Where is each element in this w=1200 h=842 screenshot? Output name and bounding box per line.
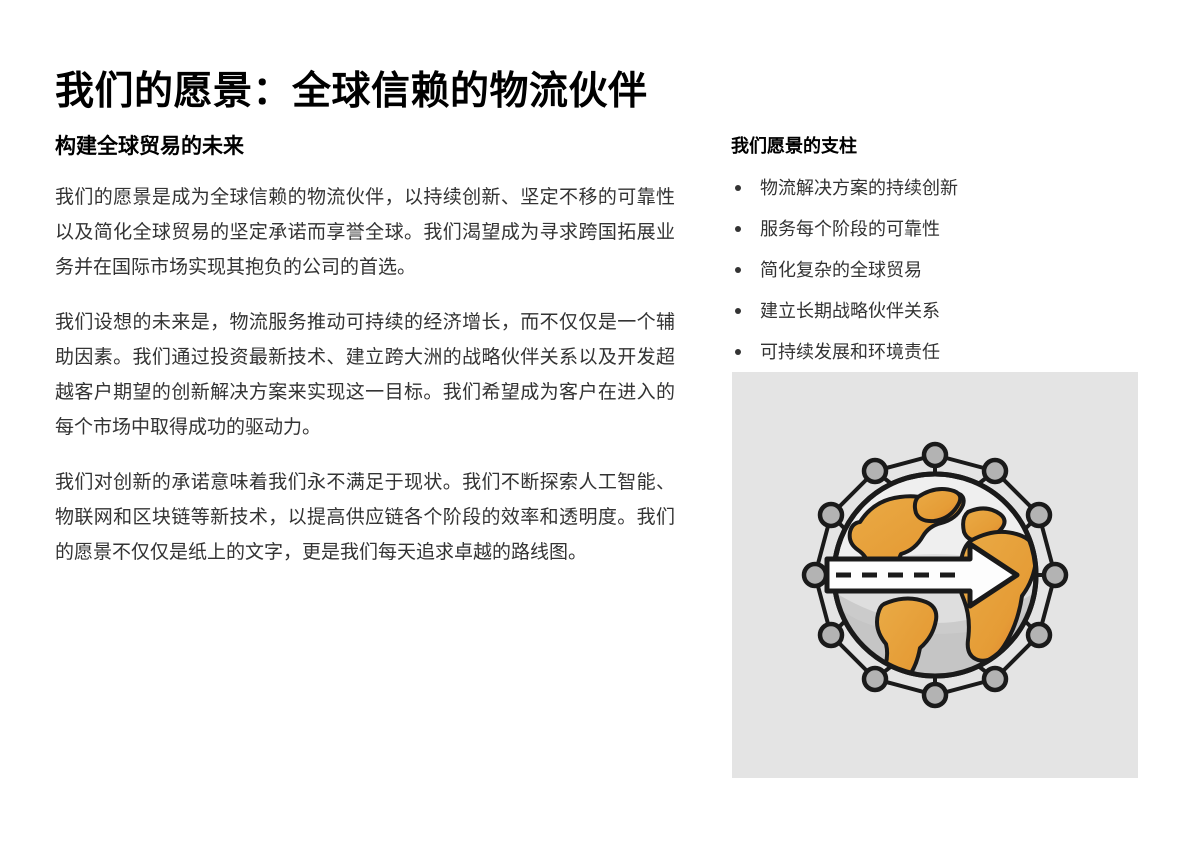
list-item-label: 建立长期战略伙伴关系 — [760, 301, 940, 321]
list-item-label: 简化复杂的全球贸易 — [760, 260, 922, 280]
network-node — [984, 460, 1006, 482]
bullet-dot-icon — [735, 185, 741, 191]
body-paragraph-1: 我们的愿景是成为全球信赖的物流伙伴，以持续创新、坚定不移的可靠性以及简化全球贸易… — [55, 180, 675, 285]
bullet-dot-icon — [735, 308, 741, 314]
network-node — [924, 684, 946, 706]
network-node — [984, 668, 1006, 690]
network-node — [820, 624, 842, 646]
network-node — [864, 668, 886, 690]
list-item-label: 物流解决方案的持续创新 — [760, 178, 958, 198]
body-paragraph-3: 我们对创新的承诺意味着我们永不满足于现状。我们不断探索人工智能、物联网和区块链等… — [55, 465, 675, 570]
right-sidebar-column: 我们愿景的支柱 物流解决方案的持续创新 服务每个阶段的可靠性 简化复杂的全球贸易… — [731, 133, 1141, 364]
network-node — [924, 444, 946, 466]
network-node — [864, 460, 886, 482]
network-node — [804, 564, 826, 586]
network-node — [820, 504, 842, 526]
left-content-column: 构建全球贸易的未来 我们的愿景是成为全球信赖的物流伙伴，以持续创新、坚定不移的可… — [55, 132, 675, 570]
pillars-heading: 我们愿景的支柱 — [731, 133, 1141, 159]
list-item: 服务每个阶段的可靠性 — [731, 217, 1141, 241]
network-node — [1028, 504, 1050, 526]
pillars-list: 物流解决方案的持续创新 服务每个阶段的可靠性 简化复杂的全球贸易 建立长期战略伙… — [731, 176, 1141, 364]
body-paragraph-2: 我们设想的未来是，物流服务推动可持续的经济增长，而不仅仅是一个辅助因素。我们通过… — [55, 305, 675, 445]
section-heading-building-future: 构建全球贸易的未来 — [55, 132, 675, 162]
list-item: 简化复杂的全球贸易 — [731, 258, 1141, 282]
bullet-dot-icon — [735, 349, 741, 355]
list-item: 建立长期战略伙伴关系 — [731, 299, 1141, 323]
list-item-label: 服务每个阶段的可靠性 — [760, 219, 940, 239]
bullet-dot-icon — [735, 267, 741, 273]
network-node — [1028, 624, 1050, 646]
globe-network-illustration — [732, 372, 1138, 778]
bullet-dot-icon — [735, 226, 741, 232]
network-node — [1044, 564, 1066, 586]
list-item: 物流解决方案的持续创新 — [731, 176, 1141, 200]
globe-network-icon — [732, 372, 1138, 778]
page-title: 我们的愿景：全球信赖的物流伙伴 — [55, 68, 1145, 116]
list-item-label: 可持续发展和环境责任 — [760, 342, 940, 362]
document-page: 我们的愿景：全球信赖的物流伙伴 构建全球贸易的未来 我们的愿景是成为全球信赖的物… — [0, 0, 1200, 842]
list-item: 可持续发展和环境责任 — [731, 340, 1141, 364]
